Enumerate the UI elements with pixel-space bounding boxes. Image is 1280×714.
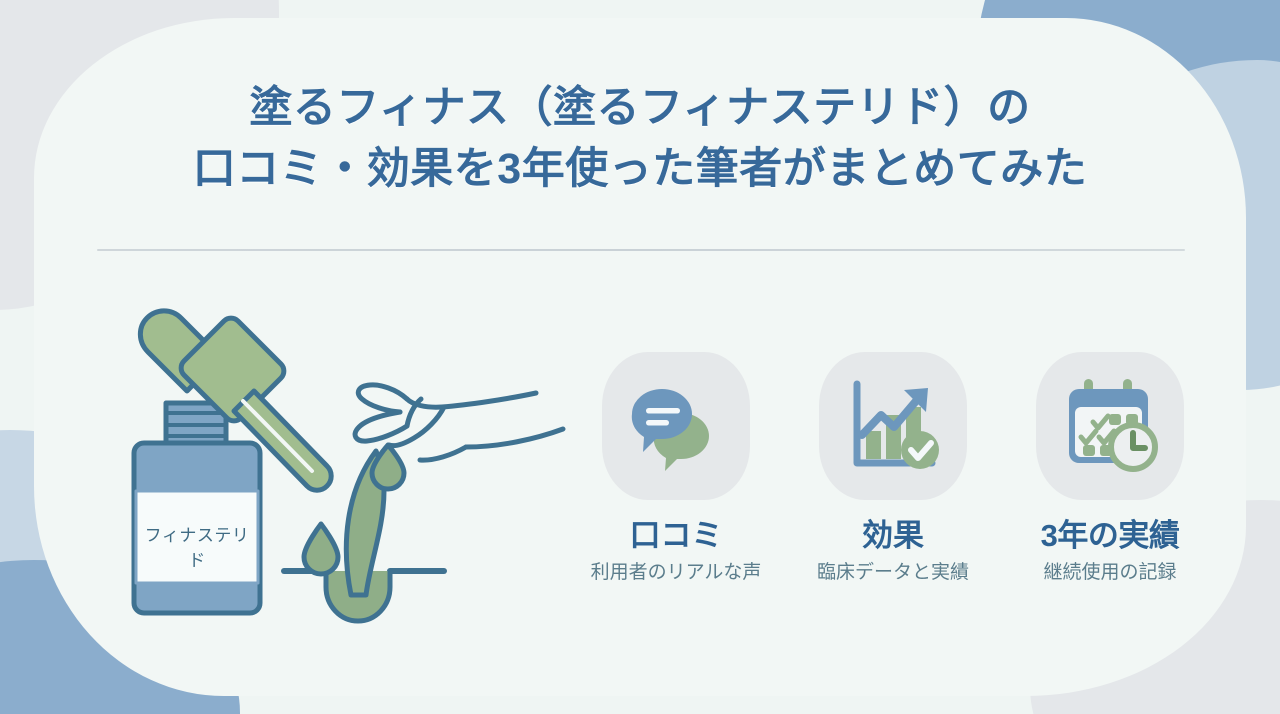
feature-card-track-record[interactable]: 3年の実績 継続使用の記録	[1020, 352, 1200, 585]
growth-chart-check-icon	[838, 371, 948, 481]
feature-list: 口コミ 利用者のリアルな声	[586, 352, 1200, 585]
title-divider	[97, 249, 1185, 251]
feature-sub-effect: 臨床データと実績	[803, 561, 983, 585]
feature-label-reviews: 口コミ	[586, 518, 766, 554]
feature-card-reviews[interactable]: 口コミ 利用者のリアルな声	[586, 352, 766, 585]
illustration-svg	[108, 295, 568, 625]
page-title: 塗るフィナス（塗るフィナステリド）の 口コミ・効果を3年使った筆者がまとめてみた	[0, 78, 1280, 200]
medicine-bottle	[134, 403, 260, 613]
feature-card-effect[interactable]: 効果 臨床データと実績	[803, 352, 983, 585]
poster-content: 塗るフィナス（塗るフィナステリド）の 口コミ・効果を3年使った筆者がまとめてみた	[0, 0, 1280, 714]
speech-bubbles-icon	[621, 371, 731, 481]
calendar-clock-icon	[1055, 371, 1165, 481]
icon-tile-effect	[819, 352, 967, 500]
title-line-2: 口コミ・効果を3年使った筆者がまとめてみた	[0, 139, 1280, 200]
feature-sub-track-record: 継続使用の記録	[1020, 561, 1200, 585]
liquid-drop	[304, 524, 338, 574]
feature-label-effect: 効果	[803, 518, 983, 554]
feature-sub-reviews: 利用者のリアルな声	[586, 561, 766, 585]
icon-tile-reviews	[602, 352, 750, 500]
illustration-dropper-scalp: フィナステリド	[108, 295, 568, 625]
poster-canvas: 塗るフィナス（塗るフィナステリド）の 口コミ・効果を3年使った筆者がまとめてみた	[0, 0, 1280, 714]
hand-applying	[355, 385, 563, 489]
title-line-1: 塗るフィナス（塗るフィナステリド）の	[0, 78, 1280, 139]
icon-tile-track-record	[1036, 352, 1184, 500]
feature-label-track-record: 3年の実績	[1020, 518, 1200, 554]
